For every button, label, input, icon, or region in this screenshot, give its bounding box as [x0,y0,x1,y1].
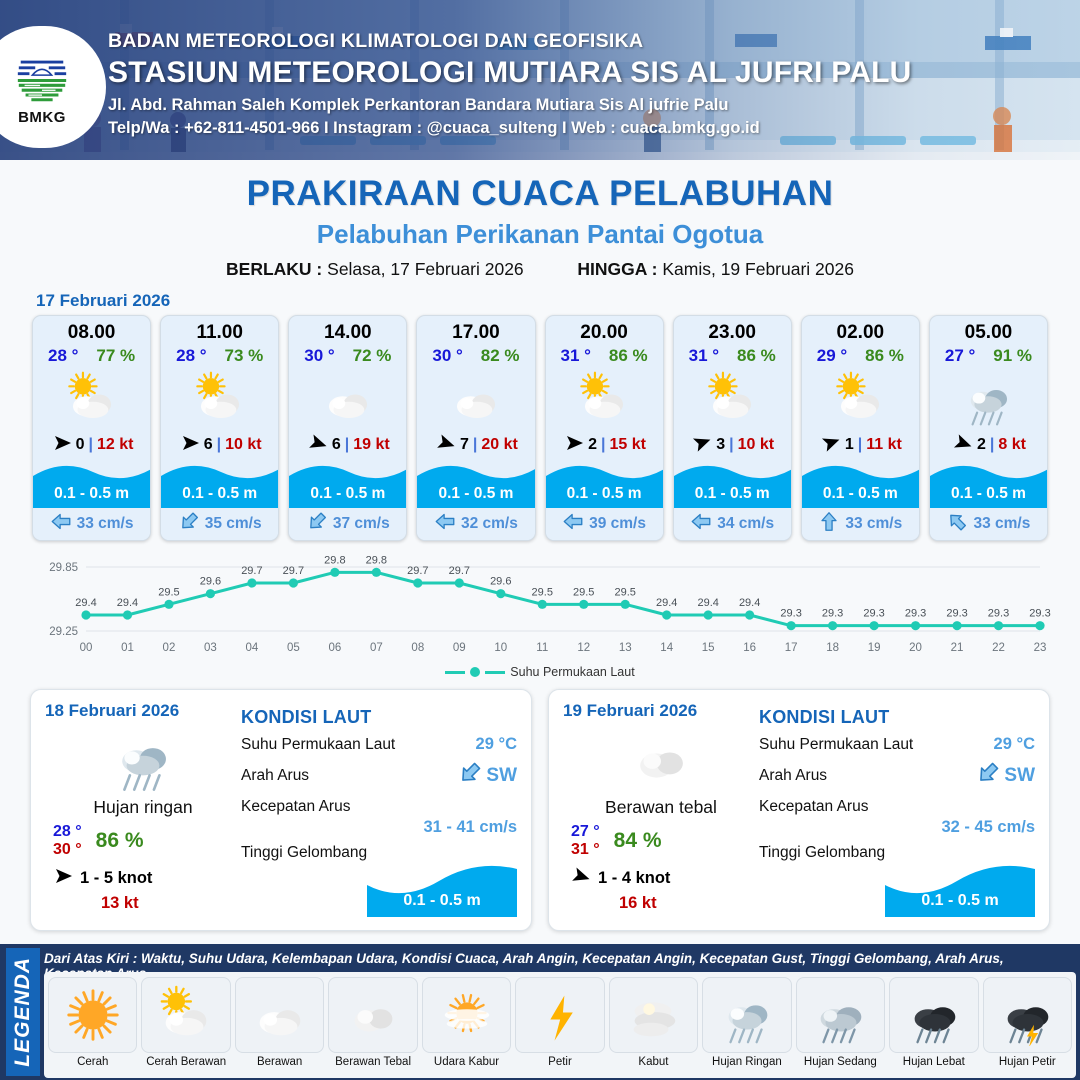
day-temp-max: 31 ° [571,841,600,859]
page-title: PRAKIRAAN CUACA PELABUHAN [0,174,1080,214]
current-direction-arrow-icon [946,511,968,537]
current-speed-value: 32 - 45 cm/s [759,818,1035,837]
card-current-row: 33 cm/s [802,508,919,540]
card-current-row: 33 cm/s [930,508,1047,540]
sst-label: Suhu Permukaan Laut [759,736,913,754]
svg-text:29.5: 29.5 [615,586,636,598]
forecast-date-label: 17 Februari 2026 [36,291,1080,311]
title-block: PRAKIRAAN CUACA PELABUHAN Pelabuhan Peri… [0,160,1080,280]
card-temperature: 30 ° [304,346,334,366]
svg-text:11: 11 [536,642,548,654]
card-weather-icon-cerah-berawan [802,368,919,430]
day-temp-min: 27 ° [571,823,600,841]
day-humidity: 84 % [614,829,662,853]
card-gust: 19 kt [353,436,389,454]
card-gust: 15 kt [610,436,646,454]
card-humidity: 86 % [609,346,648,366]
card-current-speed: 33 cm/s [845,515,902,533]
current-dir-label: Arah Arus [759,767,827,785]
svg-text:29.4: 29.4 [656,597,677,609]
card-weather-icon-cerah-berawan [546,368,663,430]
svg-text:22: 22 [992,642,1005,654]
svg-text:29.3: 29.3 [822,608,843,620]
sea-conditions-title: KONDISI LAUT [241,707,517,728]
card-time: 05.00 [930,316,1047,344]
day-temp-max: 30 ° [53,841,82,859]
day-wind-row: 1 - 4 knot [563,866,759,891]
day-wave-height: 0.1 - 0.5 m [367,892,517,910]
legenda-item-label: Hujan Ringan [712,1056,782,1068]
legenda-item: Hujan Sedang [796,977,885,1078]
current-dir-value-group: SW [457,761,517,791]
card-time: 14.00 [289,316,406,344]
legenda-section: LEGENDA Dari Atas Kiri : Waktu, Suhu Uda… [0,944,1080,1080]
svg-text:29.4: 29.4 [117,597,138,609]
card-wind-row: 0 | 12 kt [33,430,150,460]
svg-text:29.8: 29.8 [324,554,345,566]
card-separator: | [345,436,349,454]
legenda-icon-hujan-ringan [702,977,791,1053]
legenda-item: Petir [515,977,604,1078]
current-dir-label: Arah Arus [241,767,309,785]
legenda-title-bar: LEGENDA [6,948,40,1076]
current-direction-arrow-icon [562,511,584,537]
card-current-row: 34 cm/s [674,508,791,540]
svg-text:29.3: 29.3 [946,608,967,620]
legenda-item-label: Udara Kabur [434,1056,499,1068]
daily-forecast-row: 18 Februari 2026 Hujan ringan 28 ° 30 ° … [0,679,1080,931]
day-wave-graphic: 0.1 - 0.5 m [367,863,517,917]
svg-text:29.8: 29.8 [366,554,387,566]
legenda-title: LEGENDA [11,957,35,1067]
card-weather-icon-hujan-ringan [930,368,1047,430]
legenda-icon-udara-kabur [422,977,511,1053]
card-temperature: 29 ° [817,346,847,366]
legenda-item-label: Berawan Tebal [335,1056,411,1068]
sst-chart: 29.8529.2529.40029.40129.50229.60329.704… [28,553,1052,661]
card-wind-row: 7 | 20 kt [417,430,534,460]
day-condition: Berawan tebal [563,797,759,818]
current-direction-arrow-icon [178,511,200,537]
svg-text:09: 09 [453,642,466,654]
svg-text:29.3: 29.3 [988,608,1009,620]
card-wind-row: 2 | 8 kt [930,430,1047,460]
day-wind-speed: 1 - 5 knot [80,869,152,888]
legenda-item: Kabut [609,977,698,1078]
legenda-item: Hujan Petir [983,977,1072,1078]
card-separator: | [217,436,221,454]
forecast-card[interactable]: 11.00 28 ° 73 % 6 | 10 kt 0.1 - 0.5 m 35… [160,315,279,541]
svg-text:04: 04 [246,642,259,654]
current-direction-arrow-icon [50,511,72,537]
card-wave-band: 0.1 - 0.5 m [161,460,278,508]
card-wave-height: 0.1 - 0.5 m [417,485,534,503]
card-current-row: 37 cm/s [289,508,406,540]
current-speed-value: 31 - 41 cm/s [241,818,517,837]
bmkg-logo-icon [13,49,71,107]
svg-text:16: 16 [743,642,756,654]
card-gust: 10 kt [225,436,261,454]
card-temperature: 30 ° [432,346,462,366]
legenda-item-label: Berawan [257,1056,302,1068]
card-temp-humidity: 28 ° 73 % [161,344,278,366]
legenda-icon-hujan-petir [983,977,1072,1053]
card-time: 23.00 [674,316,791,344]
svg-text:29.7: 29.7 [241,565,262,577]
forecast-card[interactable]: 14.00 30 ° 72 % 6 | 19 kt 0.1 - 0.5 m 37… [288,315,407,541]
card-temp-humidity: 31 ° 86 % [674,344,791,366]
current-direction-arrow-icon [975,761,1001,791]
legenda-icon-berawan-tebal [328,977,417,1053]
forecast-card[interactable]: 23.00 31 ° 86 % 3 | 10 kt 0.1 - 0.5 m 34… [673,315,792,541]
card-humidity: 77 % [96,346,135,366]
forecast-card[interactable]: 17.00 30 ° 82 % 7 | 20 kt 0.1 - 0.5 m 32… [416,315,535,541]
sst-value: 29 °C [476,735,517,754]
sea-row-current-speed: Kecepatan Arus [759,798,1035,816]
svg-text:29.4: 29.4 [697,597,718,609]
day-temps: 27 ° 31 ° 84 % [563,823,759,859]
svg-text:00: 00 [80,642,93,654]
card-wave-height: 0.1 - 0.5 m [930,485,1047,503]
card-wave-band: 0.1 - 0.5 m [417,460,534,508]
hingga-value: Kamis, 19 Februari 2026 [662,259,854,279]
card-weather-icon-cerah-berawan [33,368,150,430]
card-humidity: 86 % [865,346,904,366]
legenda-icon-hujan-lebat [889,977,978,1053]
card-wave-height: 0.1 - 0.5 m [161,485,278,503]
card-wind-row: 3 | 10 kt [674,430,791,460]
card-current-speed: 39 cm/s [589,515,646,533]
bmkg-logo-text: BMKG [18,109,66,126]
card-separator: | [858,436,862,454]
svg-text:29.3: 29.3 [780,608,801,620]
day-date: 18 Februari 2026 [45,701,241,721]
card-wave-band: 0.1 - 0.5 m [546,460,663,508]
card-wave-height: 0.1 - 0.5 m [674,485,791,503]
card-humidity: 73 % [225,346,264,366]
svg-text:29.4: 29.4 [75,597,96,609]
card-temp-humidity: 30 ° 72 % [289,344,406,366]
card-current-speed: 35 cm/s [205,515,262,533]
svg-text:29.85: 29.85 [49,562,78,574]
station-address: Jl. Abd. Rahman Saleh Komplek Perkantora… [108,96,911,115]
svg-text:29.5: 29.5 [158,586,179,598]
svg-text:29.7: 29.7 [407,565,428,577]
card-separator: | [601,436,605,454]
card-temperature: 28 ° [176,346,206,366]
day-left-column: 18 Februari 2026 Hujan ringan 28 ° 30 ° … [45,701,241,919]
svg-text:29.5: 29.5 [573,586,594,598]
card-wind-speed: 6 [204,436,213,454]
legenda-item: Berawan Tebal [328,977,417,1078]
svg-text:29.6: 29.6 [200,576,221,588]
legenda-icon-hujan-sedang [796,977,885,1053]
svg-text:12: 12 [577,642,590,654]
sea-row-current-speed: Kecepatan Arus [241,798,517,816]
svg-text:21: 21 [951,642,964,654]
day-wave-graphic: 0.1 - 0.5 m [885,863,1035,917]
card-weather-icon-berawan [417,368,534,430]
card-wind-speed: 2 [588,436,597,454]
card-wind-speed: 1 [845,436,854,454]
legenda-icon-petir [515,977,604,1053]
card-wave-band: 0.1 - 0.5 m [33,460,150,508]
page-header: BMKG BADAN METEOROLOGI KLIMATOLOGI DAN G… [0,0,1080,160]
current-speed-label: Kecepatan Arus [241,798,350,816]
day-gust: 13 kt [45,894,241,913]
legend-line-swatch-2 [485,671,505,674]
card-wave-band: 0.1 - 0.5 m [289,460,406,508]
day-temp-min: 28 ° [53,823,82,841]
card-wind-row: 1 | 11 kt [802,430,919,460]
current-speed-label: Kecepatan Arus [759,798,868,816]
legenda-item-label: Hujan Lebat [903,1056,965,1068]
legenda-icon-cerah [48,977,137,1053]
card-time: 02.00 [802,316,919,344]
card-current-row: 33 cm/s [33,508,150,540]
hingga-label: HINGGA : [577,259,657,279]
legenda-icon-cerah-berawan [141,977,230,1053]
berlaku-label: BERLAKU : [226,259,322,279]
legenda-item-label: Hujan Petir [999,1056,1056,1068]
sea-row-sst: Suhu Permukaan Laut 29 °C [759,735,1035,754]
card-separator: | [990,436,994,454]
card-current-row: 35 cm/s [161,508,278,540]
card-wave-band: 0.1 - 0.5 m [674,460,791,508]
day-condition: Hujan ringan [45,797,241,818]
svg-text:29.3: 29.3 [905,608,926,620]
card-current-speed: 37 cm/s [333,515,390,533]
svg-text:07: 07 [370,642,383,654]
forecast-card[interactable]: 08.00 28 ° 77 % 0 | 12 kt 0.1 - 0.5 m 33… [32,315,151,541]
card-temperature: 28 ° [48,346,78,366]
card-wave-height: 0.1 - 0.5 m [546,485,663,503]
day-date: 19 Februari 2026 [563,701,759,721]
day-wind-speed: 1 - 4 knot [598,869,670,888]
card-wind-row: 6 | 10 kt [161,430,278,460]
card-wind-row: 6 | 19 kt [289,430,406,460]
current-direction-arrow-icon [818,511,840,537]
legend-line-swatch [445,671,465,674]
card-time: 20.00 [546,316,663,344]
card-gust: 11 kt [866,436,902,454]
current-direction-arrow-icon [690,511,712,537]
card-weather-icon-cerah-berawan [674,368,791,430]
svg-text:29.4: 29.4 [739,597,760,609]
card-weather-icon-cerah-berawan [161,368,278,430]
card-temp-humidity: 30 ° 82 % [417,344,534,366]
day-sea-conditions: KONDISI LAUT Suhu Permukaan Laut 29 °C A… [759,701,1035,919]
wave-label: Tinggi Gelombang [759,844,885,862]
day-weather-icon-berawan-tebal [563,723,759,795]
svg-text:13: 13 [619,642,632,654]
card-humidity: 72 % [353,346,392,366]
card-wind-speed: 0 [76,436,85,454]
day-wind-row: 1 - 5 knot [45,866,241,891]
wind-direction-arrow-icon [951,433,973,458]
card-temp-humidity: 29 ° 86 % [802,344,919,366]
header-text-block: BADAN METEOROLOGI KLIMATOLOGI DAN GEOFIS… [108,30,911,138]
svg-text:18: 18 [826,642,839,654]
svg-text:15: 15 [702,642,715,654]
current-direction-arrow-icon [306,511,328,537]
card-current-speed: 34 cm/s [717,515,774,533]
card-current-row: 39 cm/s [546,508,663,540]
legenda-item: Cerah Berawan [141,977,230,1078]
wind-direction-arrow-icon [306,433,328,458]
current-dir-value: SW [486,765,517,787]
card-wave-height: 0.1 - 0.5 m [802,485,919,503]
wind-direction-arrow-icon [819,433,841,458]
card-wind-speed: 7 [460,436,469,454]
card-time: 08.00 [33,316,150,344]
current-dir-value-group: SW [975,761,1035,791]
chart-legend-label: Suhu Permukaan Laut [510,665,634,679]
svg-text:29.25: 29.25 [49,626,78,638]
wind-direction-arrow-icon [51,866,73,891]
card-separator: | [473,436,477,454]
card-wave-height: 0.1 - 0.5 m [289,485,406,503]
card-wind-speed: 2 [977,436,986,454]
card-wave-height: 0.1 - 0.5 m [33,485,150,503]
card-separator: | [89,436,93,454]
forecast-card[interactable]: 05.00 27 ° 91 % 2 | 8 kt 0.1 - 0.5 m 33 … [929,315,1048,541]
svg-text:02: 02 [163,642,176,654]
card-separator: | [729,436,733,454]
legenda-item: Cerah [48,977,137,1078]
day-weather-icon-hujan-ringan [45,723,241,795]
day-temps: 28 ° 30 ° 86 % [45,823,241,859]
card-gust: 20 kt [481,436,517,454]
forecast-cards-row: 08.00 28 ° 77 % 0 | 12 kt 0.1 - 0.5 m 33… [0,315,1080,541]
wind-direction-arrow-icon [50,433,72,458]
legenda-items: Cerah Cerah Berawan Berawan Berawan Teba… [44,972,1076,1078]
legenda-item-label: Cerah Berawan [146,1056,226,1068]
sea-conditions-title: KONDISI LAUT [759,707,1035,728]
current-direction-arrow-icon [457,761,483,791]
card-temp-humidity: 31 ° 86 % [546,344,663,366]
svg-text:06: 06 [328,642,341,654]
wave-label: Tinggi Gelombang [241,844,367,862]
day-left-column: 19 Februari 2026 Berawan tebal 27 ° 31 °… [563,701,759,919]
wind-direction-arrow-icon [178,433,200,458]
svg-text:20: 20 [909,642,922,654]
day-gust: 16 kt [563,894,759,913]
svg-text:17: 17 [785,642,798,654]
wind-direction-arrow-icon [690,433,712,458]
card-current-speed: 33 cm/s [77,515,134,533]
legenda-item-label: Cerah [77,1056,108,1068]
legenda-icon-berawan [235,977,324,1053]
sea-row-current-dir: Arah Arus SW [759,761,1035,791]
svg-text:19: 19 [868,642,881,654]
card-wave-band: 0.1 - 0.5 m [930,460,1047,508]
svg-text:29.6: 29.6 [490,576,511,588]
card-weather-icon-berawan [289,368,406,430]
card-humidity: 86 % [737,346,776,366]
svg-text:03: 03 [204,642,217,654]
card-gust: 10 kt [738,436,774,454]
agency-name: BADAN METEOROLOGI KLIMATOLOGI DAN GEOFIS… [108,30,911,53]
card-temperature: 27 ° [945,346,975,366]
card-wave-band: 0.1 - 0.5 m [802,460,919,508]
daily-forecast-panel[interactable]: 19 Februari 2026 Berawan tebal 27 ° 31 °… [548,689,1050,931]
card-wind-speed: 3 [716,436,725,454]
wind-direction-arrow-icon [569,866,591,891]
day-sea-conditions: KONDISI LAUT Suhu Permukaan Laut 29 °C A… [241,701,517,919]
legend-dot-swatch [470,667,480,677]
legenda-item: Hujan Lebat [889,977,978,1078]
validity-period: BERLAKU : Selasa, 17 Februari 2026 HINGG… [0,259,1080,280]
station-name: STASIUN METEOROLOGI MUTIARA SIS AL JUFRI… [108,56,911,90]
card-temp-humidity: 27 ° 91 % [930,344,1047,366]
legenda-item: Berawan [235,977,324,1078]
svg-text:29.7: 29.7 [449,565,470,577]
sea-row-wave: Tinggi Gelombang [759,844,1035,862]
daily-forecast-panel[interactable]: 18 Februari 2026 Hujan ringan 28 ° 30 ° … [30,689,532,931]
legenda-item-label: Petir [548,1056,572,1068]
card-current-row: 32 cm/s [417,508,534,540]
card-humidity: 91 % [993,346,1032,366]
legenda-item: Udara Kabur [422,977,511,1078]
day-wave-height: 0.1 - 0.5 m [885,892,1035,910]
card-current-speed: 32 cm/s [461,515,518,533]
current-dir-value: SW [1004,765,1035,787]
svg-text:10: 10 [494,642,507,654]
current-direction-arrow-icon [434,511,456,537]
svg-text:29.3: 29.3 [1029,608,1050,620]
card-wind-row: 2 | 15 kt [546,430,663,460]
card-time: 17.00 [417,316,534,344]
card-wind-speed: 6 [332,436,341,454]
card-temp-humidity: 28 ° 77 % [33,344,150,366]
sea-row-wave: Tinggi Gelombang [241,844,517,862]
sst-value: 29 °C [994,735,1035,754]
sst-chart-svg: 29.8529.2529.40029.40129.50229.60329.704… [28,553,1052,661]
wind-direction-arrow-icon [562,433,584,458]
legenda-item-label: Kabut [638,1056,668,1068]
card-gust: 8 kt [998,436,1026,454]
card-current-speed: 33 cm/s [973,515,1030,533]
legenda-item: Hujan Ringan [702,977,791,1078]
forecast-card[interactable]: 20.00 31 ° 86 % 2 | 15 kt 0.1 - 0.5 m 39… [545,315,664,541]
svg-text:14: 14 [660,642,673,654]
forecast-card[interactable]: 02.00 29 ° 86 % 1 | 11 kt 0.1 - 0.5 m 33… [801,315,920,541]
card-time: 11.00 [161,316,278,344]
station-contact: Telp/Wa : +62-811-4501-966 I Instagram :… [108,119,911,138]
card-gust: 12 kt [97,436,133,454]
svg-text:05: 05 [287,642,300,654]
legenda-item-label: Hujan Sedang [804,1056,877,1068]
svg-text:08: 08 [411,642,424,654]
page-subtitle: Pelabuhan Perikanan Pantai Ogotua [0,219,1080,250]
card-humidity: 82 % [481,346,520,366]
berlaku-value: Selasa, 17 Februari 2026 [327,259,524,279]
svg-text:29.3: 29.3 [863,608,884,620]
legenda-icon-kabut [609,977,698,1053]
svg-text:01: 01 [121,642,134,654]
wind-direction-arrow-icon [434,433,456,458]
sea-row-current-dir: Arah Arus SW [241,761,517,791]
svg-text:23: 23 [1034,642,1047,654]
sea-row-sst: Suhu Permukaan Laut 29 °C [241,735,517,754]
sst-label: Suhu Permukaan Laut [241,736,395,754]
chart-legend: Suhu Permukaan Laut [0,665,1080,679]
card-temperature: 31 ° [689,346,719,366]
day-humidity: 86 % [96,829,144,853]
svg-text:29.5: 29.5 [532,586,553,598]
card-temperature: 31 ° [560,346,590,366]
